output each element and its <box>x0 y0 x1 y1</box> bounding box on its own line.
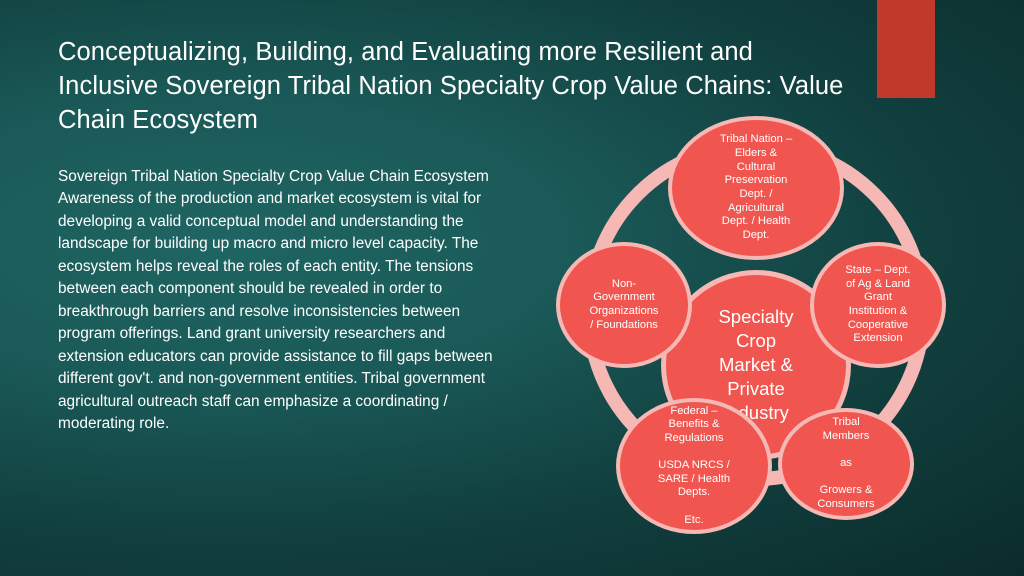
node-state-dept-ag[interactable]: State – Dept. of Ag & Land Grant Institu… <box>810 242 946 368</box>
node-tribal-nation-label: Tribal Nation – Elders & Cultural Preser… <box>714 133 798 242</box>
body-paragraph: Sovereign Tribal Nation Specialty Crop V… <box>58 166 503 436</box>
slide: Conceptualizing, Building, and Evaluatin… <box>0 0 1024 576</box>
value-chain-ecosystem-diagram: Specialty Crop Market & Private Industry… <box>520 110 990 550</box>
node-federal-benefits[interactable]: Federal – Benefits & Regulations USDA NR… <box>616 398 772 534</box>
accent-bar <box>877 0 935 98</box>
node-federal-benefits-label: Federal – Benefits & Regulations USDA NR… <box>652 405 736 528</box>
node-state-dept-ag-label: State – Dept. of Ag & Land Grant Institu… <box>839 264 916 346</box>
node-tribal-members-label: Tribal Members as Growers & Consumers <box>811 416 880 512</box>
node-ngo-foundations-label: Non- Government Organizations / Foundati… <box>583 278 664 333</box>
node-tribal-nation[interactable]: Tribal Nation – Elders & Cultural Preser… <box>668 116 844 260</box>
node-ngo-foundations[interactable]: Non- Government Organizations / Foundati… <box>556 242 692 368</box>
node-tribal-members[interactable]: Tribal Members as Growers & Consumers <box>778 408 914 520</box>
